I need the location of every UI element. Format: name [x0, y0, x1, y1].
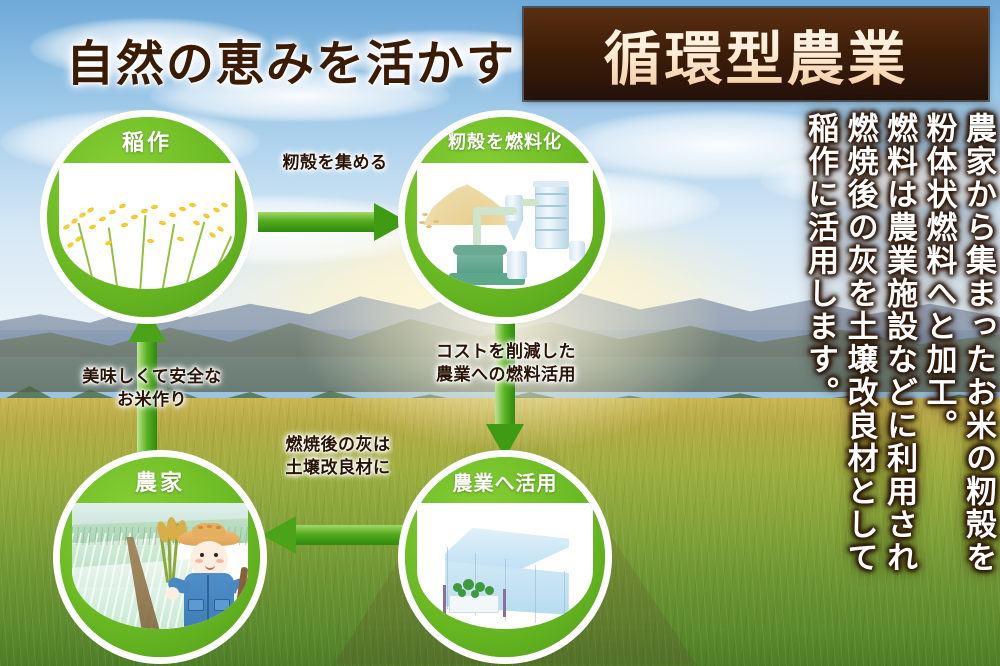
- page-title-banner-label: 循環型農業: [603, 12, 908, 96]
- node-use-in-agriculture[interactable]: 農業へ活用: [405, 457, 605, 657]
- node-farmer-label: 農家: [60, 457, 260, 505]
- page-title-lead: 自然の恵みを活かす: [66, 24, 516, 94]
- node-use-in-agriculture-label: 農業へ活用: [405, 457, 605, 505]
- arrow-label-collect-husks: 籾殻を集める: [250, 152, 420, 175]
- infographic-canvas: 自然の恵みを活かす 循環型農業 籾殻を集める コストを削減した 農業への燃料活用…: [0, 0, 1000, 666]
- farmer-figure: [156, 523, 242, 629]
- vertical-text-line-4: 燃焼後の灰を土壌改良材として: [842, 112, 875, 574]
- arrow-label-tasty-safe-rice: 美味しくて安全な お米作り: [52, 366, 252, 412]
- node-farmer-illustration: [72, 503, 248, 629]
- vertical-text-line-2: 粉体状燃料へと加工。: [921, 112, 954, 442]
- vertical-text-line-1: 農家から集まったお米の籾殻を: [961, 112, 994, 574]
- node-rice-cultivation-label: 稲作: [47, 117, 247, 165]
- node-use-in-agriculture-illustration: [417, 503, 593, 629]
- arrow-collect-husks: [258, 203, 408, 241]
- vertical-text-line-5: 稲作に活用します。: [803, 112, 836, 409]
- arrow-label-fuel-utilization: コストを削減した 農業への燃料活用: [396, 341, 616, 387]
- arrow-label-ash-soil: 燃焼後の灰は 土壌改良材に: [248, 434, 428, 480]
- page-title-banner: 循環型農業: [524, 8, 988, 100]
- node-rice-cultivation-illustration: [59, 163, 235, 289]
- vertical-description-block: 農家から集まったお米の籾殻を 粉体状燃料へと加工。 燃料は農業施設などに利用され…: [797, 112, 994, 656]
- vertical-text-line-3: 燃料は農業施設などに利用され: [882, 112, 915, 574]
- node-husk-to-fuel-label: 籾殻を燃料化: [405, 117, 605, 165]
- node-rice-cultivation[interactable]: 稲作: [47, 117, 247, 317]
- node-husk-to-fuel-illustration: [417, 163, 593, 289]
- arrow-ash-soil: [262, 516, 412, 554]
- node-farmer[interactable]: 農家: [60, 457, 260, 657]
- node-husk-to-fuel[interactable]: 籾殻を燃料化: [405, 117, 605, 317]
